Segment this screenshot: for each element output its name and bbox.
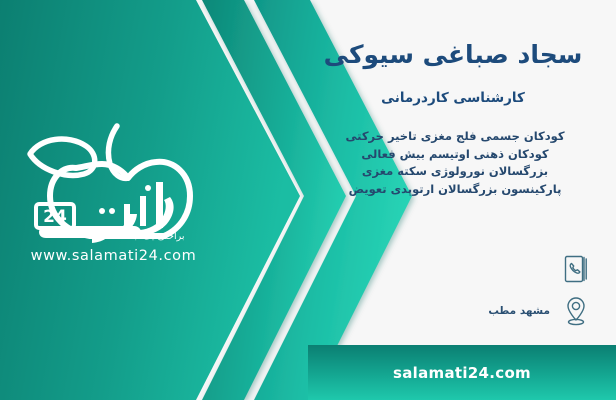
footer-bar: salamati24.com xyxy=(308,345,616,400)
map-pin-icon xyxy=(558,292,594,330)
salamati24-logo: 24 xyxy=(14,108,214,268)
footer-website[interactable]: salamati24.com xyxy=(393,364,531,382)
specialty-item: کودکان جسمی فلج مغزی تاخیر حرکتی xyxy=(316,128,594,146)
card-content-panel: سجاد صباغی سیوکی کارشناسی کاردرمانی کودک… xyxy=(308,0,616,400)
contact-block: مشهد مطب xyxy=(338,248,598,332)
contact-row-location[interactable]: مشهد مطب xyxy=(338,290,598,332)
specialties-list: کودکان جسمی فلج مغزی تاخیر حرکتی کودکان … xyxy=(316,128,594,198)
logo-tagline: براحتی یک لبخند xyxy=(95,231,210,242)
phone-book-icon xyxy=(558,250,594,288)
specialty-item: بزرگسالان نورولوژی سکته مغزی xyxy=(316,163,594,181)
person-degree: کارشناسی کاردرمانی xyxy=(318,90,588,106)
contact-location-label: مشهد مطب xyxy=(488,305,558,317)
specialty-item: کودکان ذهنی اوتیسم بیش فعالی xyxy=(316,146,594,164)
person-name: سجاد صباغی سیوکی xyxy=(318,40,588,69)
svg-text:24: 24 xyxy=(43,207,67,227)
contact-row-phone[interactable] xyxy=(338,248,598,290)
specialty-item: پارکینسون بزرگسالان ارتوپدی تعویض xyxy=(316,181,594,199)
business-card: 24 براحتی یک لبخند www.salamati24.com سج… xyxy=(0,0,616,400)
logo-website: www.salamati24.com xyxy=(26,248,201,264)
